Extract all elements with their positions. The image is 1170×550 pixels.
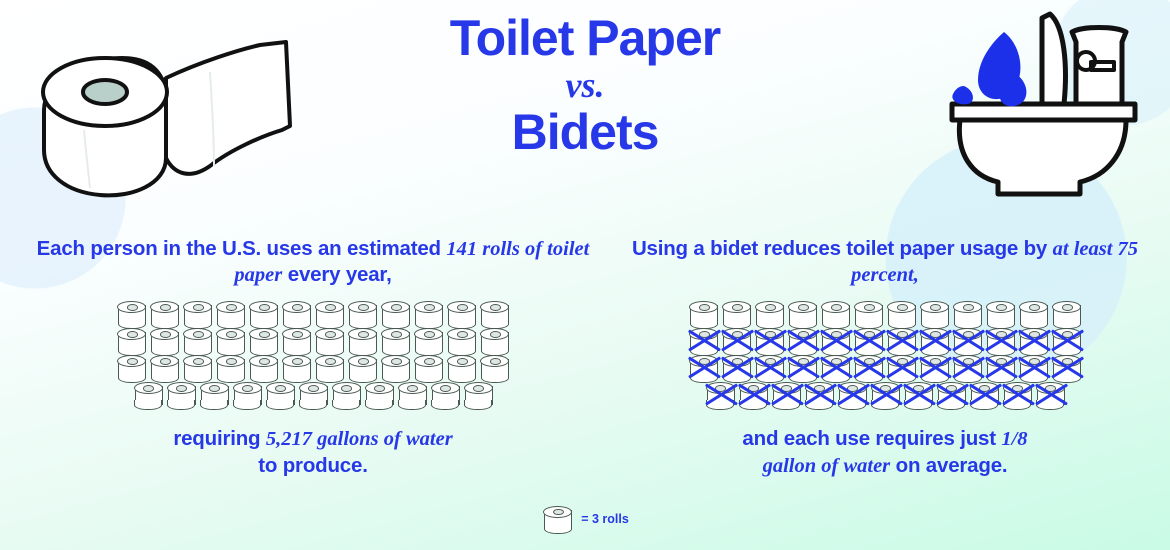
roll-icon [148,300,181,327]
roll-icon-crossed [984,327,1017,354]
roll-icon [313,354,346,381]
roll-icon-crossed [803,381,836,408]
roll-icon [280,300,313,327]
roll-icon [181,327,214,354]
roll-icon [462,381,495,408]
roll-icon [115,354,148,381]
roll-icon [247,327,280,354]
left-caption-part1: requiring [173,427,260,450]
roll-icon-crossed [984,354,1017,381]
roll-icon [247,354,280,381]
roll-icon [753,300,786,327]
roll-icon-crossed [1017,354,1050,381]
roll-icon-crossed [1050,327,1083,354]
left-caption-part2: to produce. [258,454,367,477]
roll-icon-crossed [918,354,951,381]
right-caption-part1: and each use requires just [742,427,995,450]
roll-icon-crossed [1050,354,1083,381]
roll-icon [297,381,330,408]
roll-icon [363,381,396,408]
roll-icon-crossed [720,354,753,381]
roll-icon [429,381,462,408]
roll-icon-crossed [1034,381,1067,408]
pictogram-row [615,354,1155,381]
roll-icon [412,354,445,381]
roll-icon [951,300,984,327]
roll-icon [918,300,951,327]
left-headline-part1: Each person in the U.S. uses an estimate… [37,237,441,260]
roll-icon-crossed [885,327,918,354]
roll-icon-crossed [786,327,819,354]
roll-icon-crossed [951,327,984,354]
roll-icon [148,354,181,381]
roll-icon-crossed [786,354,819,381]
roll-icon-crossed [720,327,753,354]
roll-icon [412,327,445,354]
pictogram-row [615,300,1155,327]
roll-icon [165,381,198,408]
roll-icon-crossed [951,354,984,381]
roll-icon [786,300,819,327]
legend-label: = 3 rolls [581,512,629,526]
pictogram-row [28,327,598,354]
roll-icon-crossed [885,354,918,381]
roll-icon-crossed [1017,327,1050,354]
title-block: Toilet Paper vs. Bidets [0,14,1170,157]
roll-icon [445,300,478,327]
roll-icon [852,300,885,327]
roll-icon [379,354,412,381]
right-headline-part1: Using a bidet reduces toilet paper usage… [632,237,1047,260]
roll-icon [313,327,346,354]
roll-icon-crossed [819,327,852,354]
roll-icon-crossed [753,354,786,381]
roll-icon-crossed [918,327,951,354]
roll-icon-crossed [968,381,1001,408]
roll-icon-crossed [770,381,803,408]
left-pictogram-grid [28,300,598,408]
left-headline-part2: every year, [288,263,392,286]
left-headline: Each person in the U.S. uses an estimate… [28,236,598,288]
legend: = 3 rolls [0,505,1170,532]
roll-icon [214,327,247,354]
infographic-canvas: Toilet Paper vs. Bidets Each person in t… [0,0,1170,550]
legend-roll-icon [541,505,574,532]
left-caption-stat: 5,217 gallons of water [266,428,453,450]
right-caption-stat-cont: gallon of water [763,455,891,477]
roll-icon [445,327,478,354]
page-title-line1: Toilet Paper [0,14,1170,63]
roll-icon [198,381,231,408]
roll-icon [687,300,720,327]
roll-icon [330,381,363,408]
roll-icon [280,327,313,354]
roll-icon-crossed [852,354,885,381]
roll-icon [1017,300,1050,327]
roll-icon [478,354,511,381]
roll-icon [214,300,247,327]
roll-icon [412,300,445,327]
roll-icon [478,300,511,327]
roll-icon [396,381,429,408]
roll-icon-crossed [1001,381,1034,408]
roll-icon [346,354,379,381]
roll-icon [280,354,313,381]
right-pictogram-grid [615,300,1155,408]
roll-icon-crossed [836,381,869,408]
left-caption: requiring 5,217 gallons of water to prod… [28,426,598,478]
right-headline: Using a bidet reduces toilet paper usage… [615,236,1155,288]
roll-icon [148,327,181,354]
pictogram-row [28,300,598,327]
roll-icon-crossed [687,354,720,381]
roll-icon-crossed [902,381,935,408]
roll-icon [264,381,297,408]
pictogram-row [615,381,1155,408]
page-title-line2: Bidets [0,108,1170,157]
roll-icon-crossed [704,381,737,408]
roll-icon-crossed [753,327,786,354]
left-column: Each person in the U.S. uses an estimate… [28,236,598,479]
roll-icon [247,300,280,327]
roll-icon [181,354,214,381]
right-caption: and each use requires just 1/8 gallon of… [615,426,1155,478]
roll-icon [181,300,214,327]
roll-icon-crossed [737,381,770,408]
roll-icon [379,300,412,327]
roll-icon [346,300,379,327]
roll-icon [115,327,148,354]
roll-icon [132,381,165,408]
pictogram-row [28,381,598,408]
roll-icon [478,327,511,354]
roll-icon-crossed [869,381,902,408]
roll-icon [720,300,753,327]
roll-icon [445,354,478,381]
roll-icon [313,300,346,327]
roll-icon-crossed [852,327,885,354]
roll-icon-crossed [935,381,968,408]
roll-icon [819,300,852,327]
roll-icon-crossed [687,327,720,354]
roll-icon [346,327,379,354]
roll-icon [984,300,1017,327]
pictogram-row [28,354,598,381]
roll-icon-crossed [819,354,852,381]
right-caption-part2: on average. [896,454,1008,477]
roll-icon [115,300,148,327]
pictogram-row [615,327,1155,354]
right-caption-stat: 1/8 [1001,428,1027,450]
roll-icon [1050,300,1083,327]
roll-icon [214,354,247,381]
roll-icon [379,327,412,354]
right-column: Using a bidet reduces toilet paper usage… [615,236,1155,479]
roll-icon [885,300,918,327]
page-title-vs: vs. [0,63,1170,108]
roll-icon [231,381,264,408]
